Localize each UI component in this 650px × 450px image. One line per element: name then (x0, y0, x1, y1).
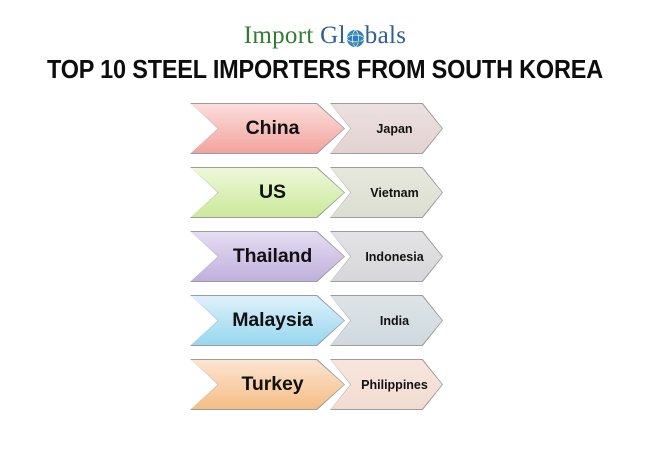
chevron-secondary-philippines[interactable]: Philippines (330, 359, 443, 410)
chevron-secondary-indonesia[interactable]: Indonesia (330, 231, 443, 282)
chevron-label: Thailand (190, 245, 345, 268)
brand-logo-gl: Gl (320, 23, 346, 48)
page-title: TOP 10 STEEL IMPORTERS FROM SOUTH KOREA (26, 56, 624, 85)
chevron-label: China (190, 117, 345, 140)
chevron-row: India Malaysia (0, 295, 650, 346)
chevron-label: India (330, 314, 443, 328)
importers-chevron-list: Japan China Vietnam US Indonesia (0, 103, 650, 410)
chevron-primary-china[interactable]: China (190, 103, 345, 154)
brand-logo: Import Gl bals (0, 18, 650, 52)
brand-logo-bals: bals (365, 23, 406, 48)
chevron-label: US (190, 181, 345, 204)
chevron-secondary-vietnam[interactable]: Vietnam (330, 167, 443, 218)
chevron-label: Japan (330, 122, 443, 136)
brand-logo-text: Import Gl bals (244, 23, 407, 48)
chevron-primary-thailand[interactable]: Thailand (190, 231, 345, 282)
chevron-row: Vietnam US (0, 167, 650, 218)
chevron-label: Philippines (330, 378, 443, 392)
chevron-label: Vietnam (330, 186, 443, 200)
chevron-label: Indonesia (330, 250, 443, 264)
chevron-primary-us[interactable]: US (190, 167, 345, 218)
chevron-row: Indonesia Thailand (0, 231, 650, 282)
chevron-secondary-japan[interactable]: Japan (330, 103, 443, 154)
chevron-label: Malaysia (190, 309, 345, 332)
brand-logo-import: Import (244, 23, 314, 48)
chevron-row: Philippines Turkey (0, 359, 650, 410)
globe-icon (346, 28, 365, 47)
chevron-primary-turkey[interactable]: Turkey (190, 359, 345, 410)
chevron-secondary-india[interactable]: India (330, 295, 443, 346)
chevron-primary-malaysia[interactable]: Malaysia (190, 295, 345, 346)
chevron-label: Turkey (190, 373, 345, 396)
chevron-row: Japan China (0, 103, 650, 154)
